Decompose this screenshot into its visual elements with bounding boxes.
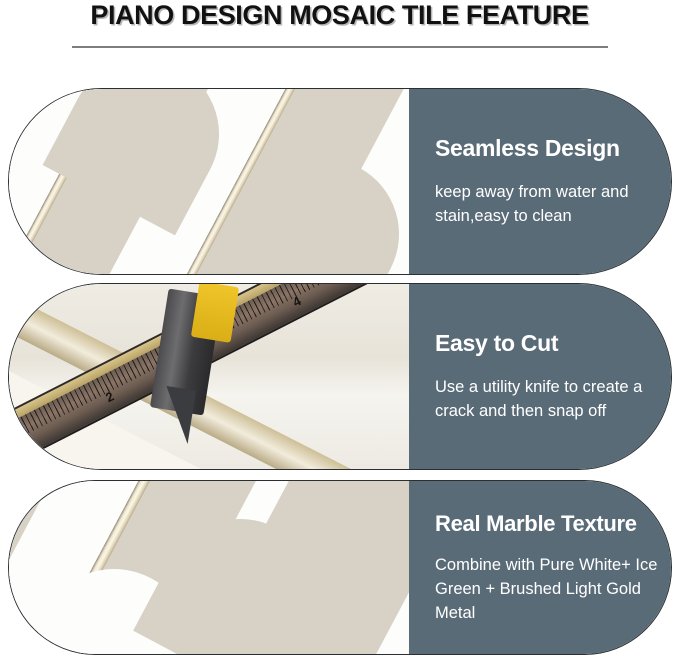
ruler-number: 4 [290,293,303,310]
cutting-artwork: 2 3 4 5 MADE [9,284,413,469]
header: PIANO DESIGN MOSAIC TILE FEATURE [0,0,679,72]
feature-photo-marble-texture-closeup [9,481,413,654]
feature-info-panel: Real Marble Texture Combine with Pure Wh… [409,481,671,654]
title-divider [72,46,608,48]
page-title: PIANO DESIGN MOSAIC TILE FEATURE [0,0,679,31]
feature-row-easy-to-cut: 2 3 4 5 MADE Easy to Cut Use a utility k… [8,283,672,470]
feature-title: Easy to Cut [435,330,661,357]
feature-row-seamless-design: Seamless Design keep away from water and… [8,88,672,275]
mosaic-artwork [9,89,413,274]
feature-description: Combine with Pure White+ Ice Green + Bru… [435,553,661,625]
ruler-number: 2 [103,389,116,406]
feature-info-panel: Easy to Cut Use a utility knife to creat… [409,284,671,469]
mosaic-artwork [9,481,413,654]
feature-row-real-marble-texture: Real Marble Texture Combine with Pure Wh… [8,480,672,655]
feature-title: Seamless Design [435,135,661,162]
feature-info-panel: Seamless Design keep away from water and… [409,89,671,274]
feature-title: Real Marble Texture [435,511,661,537]
feature-photo-utility-knife-cutting: 2 3 4 5 MADE [9,284,413,469]
feature-description: Use a utility knife to create a crack an… [435,375,661,423]
feature-description: keep away from water and stain,easy to c… [435,180,661,228]
feature-photo-mosaic-tile-closeup [9,89,413,274]
